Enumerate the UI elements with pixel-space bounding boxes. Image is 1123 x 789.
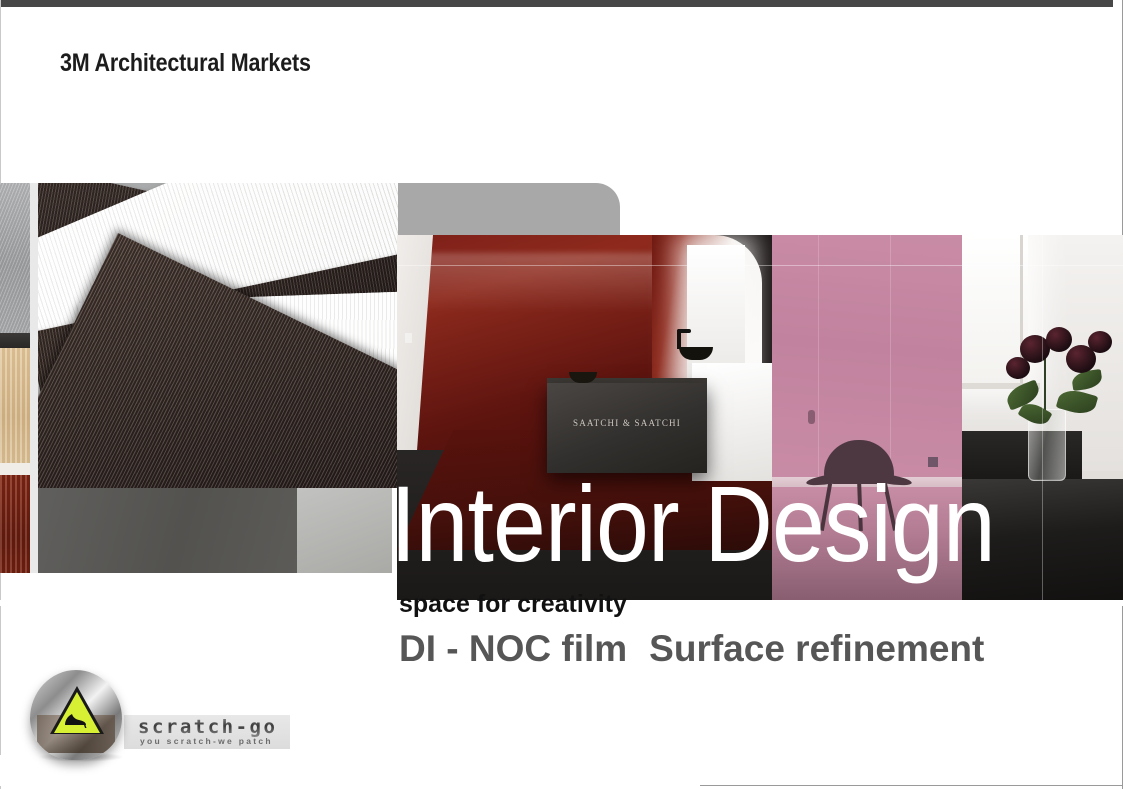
flower-bloom-5: [1088, 331, 1112, 353]
pink-wall-seam-2: [890, 235, 891, 485]
flower-bloom-2: [1046, 327, 1072, 352]
scratch-go-logo[interactable]: scratch-go you scratch-we patch: [28, 668, 290, 764]
top-accent-bar: [0, 0, 1113, 7]
caption-product-label: DI - NOC film: [399, 628, 627, 669]
hero-image-band: SAATCHI & SAATCHI: [0, 183, 1123, 603]
reception-wall-plate: [405, 333, 412, 343]
slab-dark-gray: [38, 488, 297, 573]
logo-tagline: you scratch-we patch: [140, 736, 273, 746]
page-title: 3M Architectural Markets: [60, 49, 311, 78]
pink-wall-hook: [808, 410, 815, 424]
high-heel-shoe-icon: [64, 712, 88, 728]
gray-rounded-tab: [397, 183, 620, 237]
saatchi-reception-photo: SAATCHI & SAATCHI: [397, 235, 772, 600]
white-knockout-center: [380, 755, 700, 786]
logo-wordmark: scratch-go: [138, 716, 277, 738]
flower-bloom-4: [1006, 357, 1030, 379]
pink-room-photo: [772, 235, 962, 600]
flowers-table: [962, 479, 1123, 600]
pink-wall-seam-1: [818, 235, 819, 485]
window-flowers-photo: [962, 235, 1123, 600]
caption-main: DI - NOC filmSurface refinement: [399, 628, 984, 670]
slab-light-gray: [297, 488, 392, 573]
slide-canvas: 3M Architectural Markets: [0, 0, 1123, 789]
pink-wall-label: [928, 457, 938, 467]
caption-benefit-label: Surface refinement: [649, 628, 984, 669]
reception-desk-sign: SAATCHI & SAATCHI: [547, 418, 707, 428]
reception-wall-gloss: [407, 253, 657, 313]
reception-tap-icon: [677, 329, 681, 349]
reception-desk: [547, 383, 707, 473]
laminate-samples-photo: [0, 183, 398, 573]
shield-emblem-icon: [30, 670, 122, 760]
angled-laminate-sheets: [38, 183, 398, 488]
swatch-gap-line: [30, 183, 38, 573]
caption-subtitle: space for creativity: [399, 590, 627, 619]
pink-floor: [772, 487, 962, 600]
